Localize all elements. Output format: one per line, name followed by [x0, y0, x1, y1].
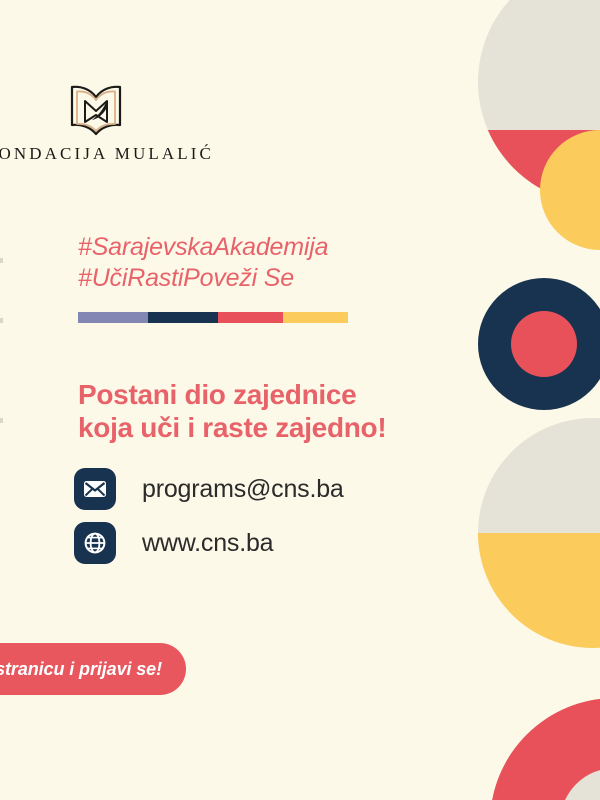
color-bar-segment-red [218, 312, 283, 323]
color-bar-segment-yellow [283, 312, 348, 323]
envelope-icon [74, 468, 116, 510]
hashtag-block: #SarajevskaAkademija #UčiRastiPoveži Se [78, 232, 328, 294]
hashtag-line-2: #UčiRastiPoveži Se [78, 263, 328, 294]
headline-line-2: koja uči i raste zajedno! [78, 411, 386, 444]
contact-email-label: programs@cns.ba [142, 475, 344, 504]
cta-button-label: stranicu i prijavi se! [0, 659, 162, 680]
cta-button[interactable]: stranicu i prijavi se! [0, 643, 186, 695]
contact-website-label: www.cns.ba [142, 529, 273, 558]
open-book-with-quill-icon [63, 84, 129, 136]
color-bar-segment-navy [148, 312, 218, 323]
color-bar-segment-periwinkle [78, 312, 148, 323]
poster-canvas: FONDACIJA MULALIĆ #SarajevskaAkademija #… [0, 0, 600, 800]
brand-wordmark: FONDACIJA MULALIĆ [0, 144, 206, 164]
globe-icon [74, 522, 116, 564]
brand-logo: FONDACIJA MULALIĆ [0, 84, 206, 164]
poster-content: FONDACIJA MULALIĆ #SarajevskaAkademija #… [0, 0, 600, 800]
headline-block: Postani dio zajednice koja uči i raste z… [78, 378, 386, 444]
contact-list: programs@cns.ba www.cns.ba [74, 462, 344, 570]
headline-line-1: Postani dio zajednice [78, 378, 386, 411]
contact-row-email[interactable]: programs@cns.ba [74, 462, 344, 516]
contact-row-website[interactable]: www.cns.ba [74, 516, 344, 570]
hashtag-line-1: #SarajevskaAkademija [78, 232, 328, 263]
brand-color-bar [78, 312, 348, 323]
